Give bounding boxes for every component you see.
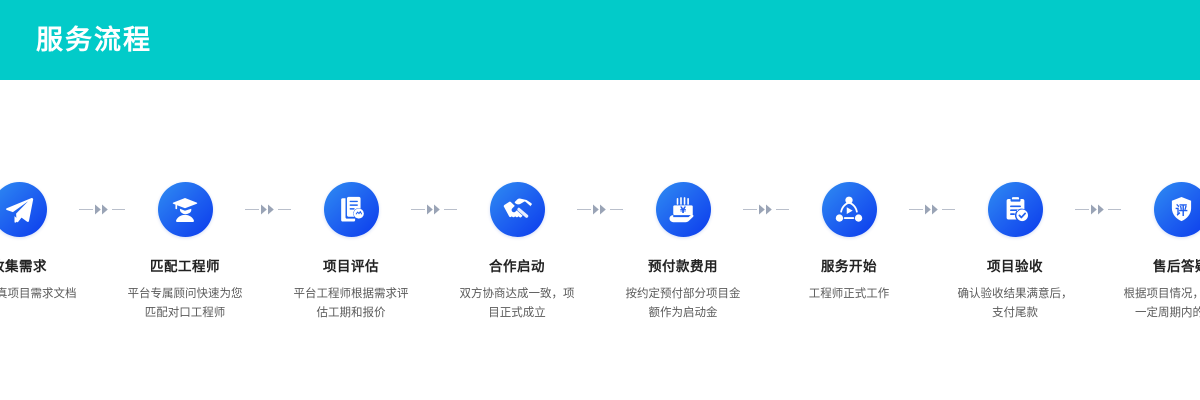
double-chevron-right-icon	[923, 204, 942, 215]
paper-plane-icon	[4, 195, 34, 225]
flow-step-2-desc: 平台专属顾问快速为您匹配对口工程师	[127, 284, 243, 322]
flow-step-5-desc: 按约定预付部分项目金额作为启动金	[625, 284, 741, 322]
double-chevron-right-icon	[591, 204, 610, 215]
flow-step-5-icon-circle: ¥	[656, 182, 711, 237]
flow-step-3[interactable]: 项目评估 平台工程师根据需求评估工期和报价	[292, 182, 410, 322]
double-chevron-right-icon	[757, 204, 776, 215]
flow-step-8-title: 售后答疑	[1153, 259, 1200, 275]
flow-step-2-icon-circle	[158, 182, 213, 237]
flow-step-8[interactable]: 评 售后答疑 根据项目情况，可进行一定周期内的答疑	[1122, 182, 1200, 322]
flow-step-3-icon-circle	[324, 182, 379, 237]
service-flow-section: 收集需求 提交仿真项目需求文档	[0, 80, 1200, 400]
flow-step-7-desc: 确认验收结果满意后，支付尾款	[957, 284, 1073, 322]
flow-step-7-title: 项目验收	[987, 259, 1043, 275]
flow-step-7[interactable]: 项目验收 确认验收结果满意后，支付尾款	[956, 182, 1074, 322]
flow-step-6-desc: 工程师正式工作	[791, 284, 907, 303]
flow-step-3-desc: 平台工程师根据需求评估工期和报价	[293, 284, 409, 322]
clipboard-check-icon	[1001, 195, 1030, 224]
double-chevron-right-icon	[259, 204, 278, 215]
flow-step-1-desc: 提交仿真项目需求文档	[0, 284, 77, 303]
double-chevron-right-icon	[425, 204, 444, 215]
page-header: 服务流程	[0, 0, 1200, 80]
document-analysis-icon	[337, 195, 366, 224]
svg-text:评: 评	[1175, 203, 1187, 217]
graduate-person-icon	[170, 195, 200, 225]
flow-connector-1	[78, 182, 126, 237]
flow-connector-3	[410, 182, 458, 237]
flow-step-4-desc: 双方协商达成一致，项目正式成立	[459, 284, 575, 322]
flow-step-5[interactable]: ¥ 预付款费用 按约定预付部分项目金额作为启动金	[624, 182, 742, 322]
flow-step-6[interactable]: 服务开始 工程师正式工作	[790, 182, 908, 303]
flow-step-6-icon-circle	[822, 182, 877, 237]
double-chevron-right-icon	[1089, 204, 1108, 215]
flow-steps-row: 收集需求 提交仿真项目需求文档	[0, 182, 1200, 322]
network-play-icon	[834, 195, 864, 225]
flow-step-1-icon-circle	[0, 182, 47, 237]
hand-holding-yuan-icon: ¥	[668, 195, 698, 225]
flow-step-3-title: 项目评估	[323, 259, 379, 275]
flow-step-6-title: 服务开始	[821, 259, 877, 275]
flow-step-1-title: 收集需求	[0, 259, 47, 275]
svg-text:¥: ¥	[680, 205, 687, 215]
shield-review-icon: 评	[1167, 195, 1196, 224]
flow-step-5-title: 预付款费用	[648, 259, 718, 275]
flow-step-2[interactable]: 匹配工程师 平台专属顾问快速为您匹配对口工程师	[126, 182, 244, 322]
flow-connector-4	[576, 182, 624, 237]
page-title: 服务流程	[36, 27, 152, 54]
flow-step-4-title: 合作启动	[489, 259, 545, 275]
flow-step-4-icon-circle	[490, 182, 545, 237]
flow-connector-5	[742, 182, 790, 237]
flow-connector-2	[244, 182, 292, 237]
flow-step-7-icon-circle	[988, 182, 1043, 237]
flow-connector-6	[908, 182, 956, 237]
flow-step-8-desc: 根据项目情况，可进行一定周期内的答疑	[1123, 284, 1200, 322]
flow-step-2-title: 匹配工程师	[150, 259, 220, 275]
flow-connector-7	[1074, 182, 1122, 237]
flow-step-1[interactable]: 收集需求 提交仿真项目需求文档	[0, 182, 78, 303]
flow-step-4[interactable]: 合作启动 双方协商达成一致，项目正式成立	[458, 182, 576, 322]
double-chevron-right-icon	[93, 204, 112, 215]
flow-step-8-icon-circle: 评	[1154, 182, 1200, 237]
handshake-icon	[502, 194, 533, 225]
